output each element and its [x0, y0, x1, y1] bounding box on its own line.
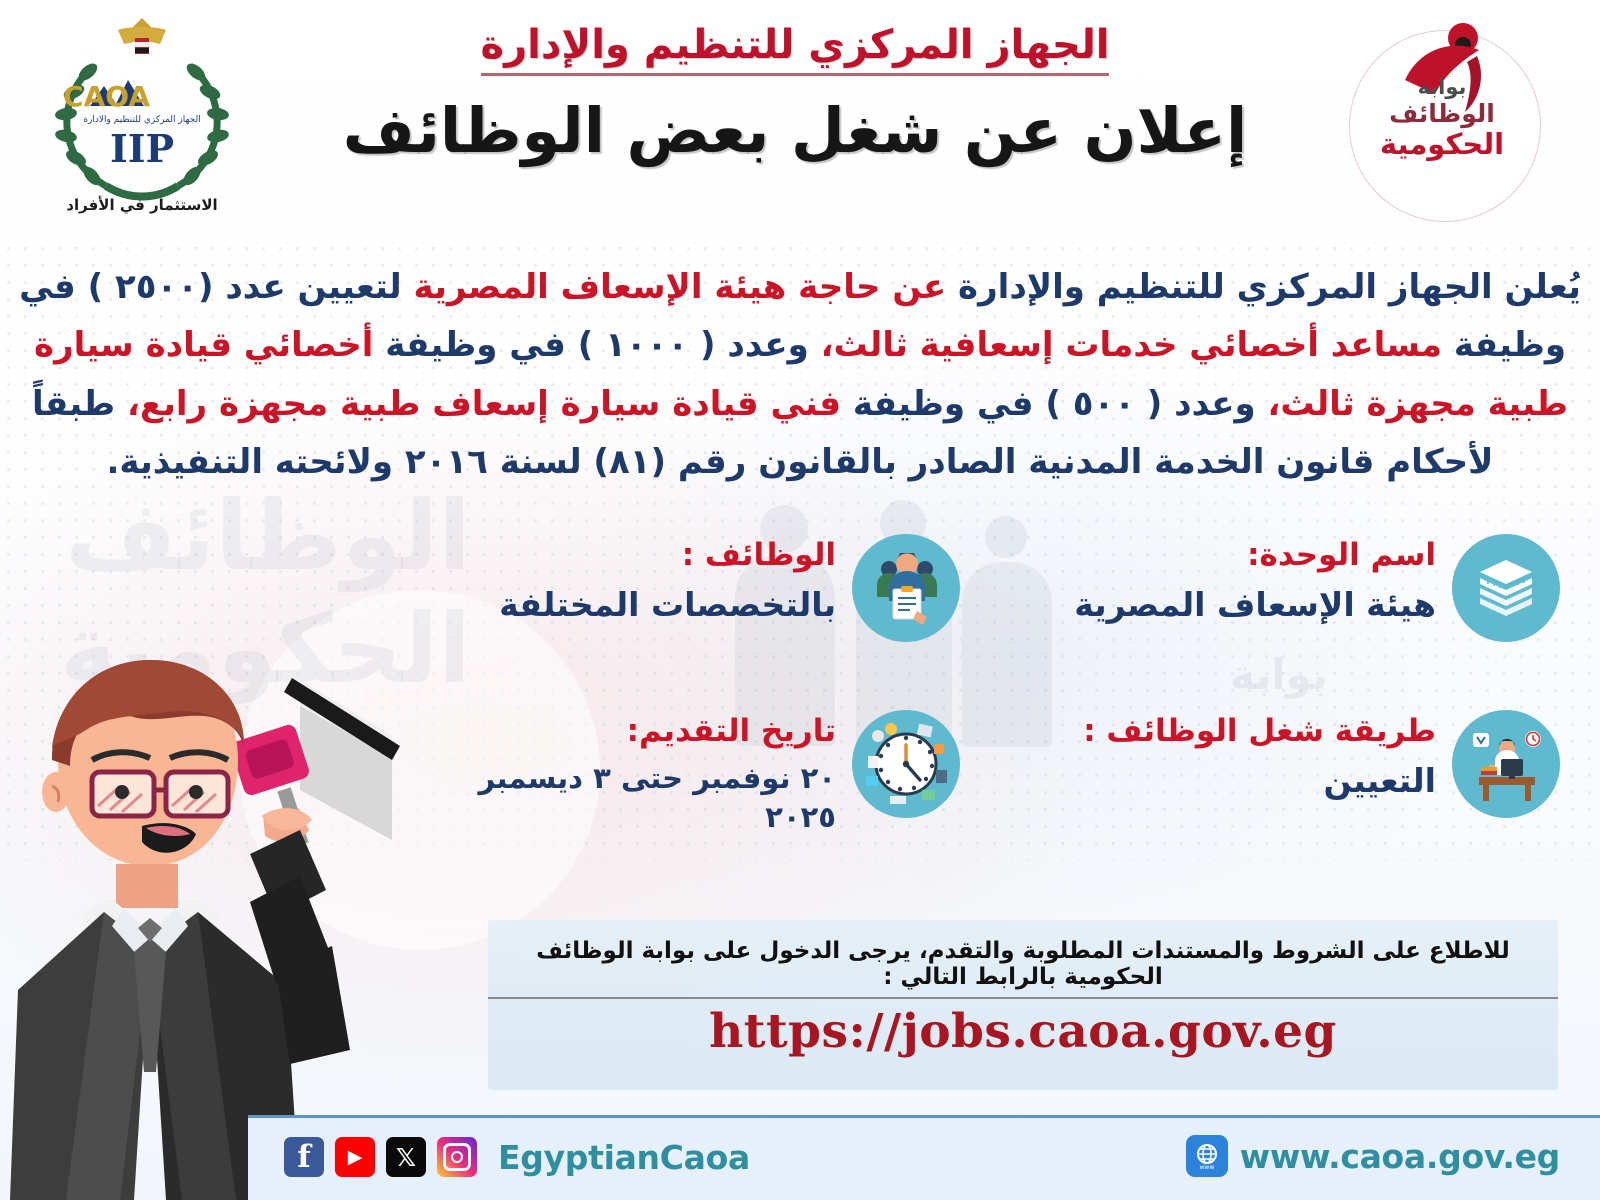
globe-www-icon: www	[1186, 1135, 1228, 1177]
apply-link-panel: للاطلاع على الشروط والمستندات المطلوبة و…	[488, 920, 1558, 1090]
method-value: التعيين	[1006, 759, 1436, 804]
portal-logo-line-3: الحكومية	[1353, 128, 1531, 160]
globe-www-icon-svg: www	[1193, 1142, 1221, 1170]
portal-logo-text: بوابة الوظائف الحكومية	[1353, 76, 1531, 160]
desk-worker-icon	[1452, 710, 1560, 818]
poster-header: بوابة الوظائف الحكومية الجهاز المركزي لل…	[0, 0, 1600, 232]
team-clipboard-icon	[852, 534, 960, 642]
youtube-icon[interactable]: ▶	[335, 1137, 375, 1177]
body-segment-1: عن حاجة هيئة الإسعاف المصرية	[414, 267, 947, 307]
info-cell-date: تاريخ التقديم: ٢٠ نوفمبر حتى ٣ ديسمبر ٢٠…	[400, 706, 960, 856]
website-url[interactable]: www.caoa.gov.eg	[1240, 1137, 1560, 1176]
portal-logo-line-1: بوابة	[1353, 76, 1531, 100]
date-label: تاريخ التقديم:	[406, 712, 836, 751]
poster-root: الوظائف الحكومية بوابة بوابة الوظائف الح…	[0, 0, 1600, 1200]
team-clipboard-icon-svg	[863, 545, 949, 631]
apply-instructions: للاطلاع على الشروط والمستندات المطلوبة و…	[488, 938, 1558, 999]
body-segment-3: مساعد أخصائي خدمات إسعافية ثالث،	[821, 325, 1442, 365]
caoa-emblem-svg: CAOA الجهاز المركزي للتنظيم والادارة IIP…	[32, 10, 252, 220]
website-link[interactable]: www www.caoa.gov.eg	[1186, 1135, 1560, 1177]
caoa-arabic-name: الجهاز المركزي للتنظيم والادارة	[83, 115, 200, 125]
info-cell-unit-text: اسم الوحدة: هيئة الإسعاف المصرية	[1006, 536, 1436, 627]
instagram-icon[interactable]	[437, 1137, 477, 1177]
poster-footer: f ▶ 𝕏 EgyptianCaoa www www.caoa.gov.eg	[248, 1118, 1600, 1200]
info-cell-jobs-text: الوظائف : بالتخصصات المختلفة	[406, 536, 836, 627]
apply-url[interactable]: https://jobs.caoa.gov.eg	[488, 1004, 1558, 1059]
caoa-iip-emblem: CAOA الجهاز المركزي للتنظيم والادارة IIP…	[32, 10, 252, 220]
unit-label: اسم الوحدة:	[1006, 536, 1436, 575]
caoa-acronym: CAOA	[63, 80, 150, 113]
gov-jobs-portal-logo: بوابة الوظائف الحكومية	[1335, 18, 1565, 218]
desk-worker-icon-svg	[1463, 721, 1549, 807]
date-value: ٢٠ نوفمبر حتى ٣ ديسمبر ٢٠٢٥	[406, 759, 836, 837]
organization-name: الجهاز المركزي للتنظيم والإدارة	[481, 22, 1110, 76]
x-icon[interactable]: 𝕏	[386, 1137, 426, 1177]
iip-acronym: IIP	[110, 126, 174, 171]
jobs-value: بالتخصصات المختلفة	[406, 583, 836, 628]
info-cell-method: طريقة شغل الوظائف : التعيين	[1000, 706, 1560, 856]
body-segment-7: فني قيادة سيارة إسعاف طبية مجهزة رابع،	[127, 384, 841, 424]
info-cell-jobs: الوظائف : بالتخصصات المختلفة	[400, 530, 960, 680]
announcement-body: يُعلن الجهاز المركزي للتنظيم والإدارة عن…	[18, 258, 1582, 492]
info-cell-method-text: طريقة شغل الوظائف : التعيين	[1006, 712, 1436, 803]
title-block: الجهاز المركزي للتنظيم والإدارة إعلان عن…	[330, 22, 1260, 163]
facebook-icon[interactable]: f	[284, 1137, 324, 1177]
building-icon-svg	[1470, 552, 1542, 624]
social-handle[interactable]: EgyptianCaoa	[498, 1138, 750, 1177]
body-segment-6: وعدد ( ٥٠٠ ) في وظيفة	[853, 384, 1256, 424]
building-icon	[1452, 534, 1560, 642]
jobs-label: الوظائف :	[406, 536, 836, 575]
body-segment-0: يُعلن الجهاز المركزي للتنظيم والإدارة	[958, 267, 1581, 307]
body-segment-4: وعدد ( ١٠٠٠ ) في وظيفة	[385, 325, 809, 365]
unit-value: هيئة الإسعاف المصرية	[1006, 583, 1436, 628]
info-cell-unit: اسم الوحدة: هيئة الإسعاف المصرية	[1000, 530, 1560, 680]
social-links: f ▶ 𝕏 EgyptianCaoa	[284, 1137, 750, 1177]
svg-text:www: www	[1199, 1164, 1214, 1170]
clock-icon	[852, 710, 960, 818]
info-cell-date-text: تاريخ التقديم: ٢٠ نوفمبر حتى ٣ ديسمبر ٢٠…	[406, 712, 836, 837]
megaphone-icon	[229, 678, 400, 847]
clock-icon-svg	[860, 718, 952, 810]
method-label: طريقة شغل الوظائف :	[1006, 712, 1436, 751]
apply-instructions-text: للاطلاع على الشروط والمستندات المطلوبة و…	[488, 938, 1558, 999]
portal-logo-line-2: الوظائف	[1353, 100, 1531, 128]
iip-tagline: الاستثمار في الأفراد	[66, 196, 217, 214]
poster-headline: إعلان عن شغل بعض الوظائف	[330, 98, 1260, 163]
eagle-icon	[118, 18, 166, 54]
